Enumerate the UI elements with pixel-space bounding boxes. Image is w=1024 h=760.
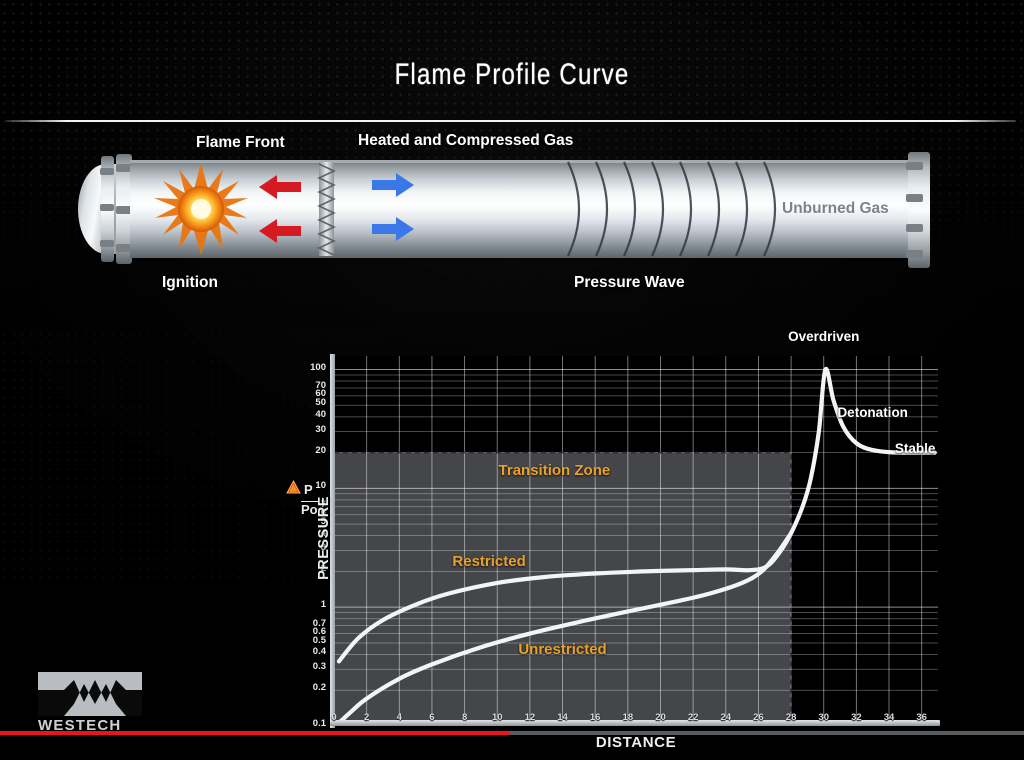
x-tick-label: 22 [688,712,699,723]
x-tick-label: 24 [720,712,731,723]
x-tick-label: 4 [397,712,402,723]
x-tick-label: 28 [786,712,797,723]
chart-annotation: Detonation [837,405,908,420]
x-tick-label: 10 [492,712,503,723]
pipe-diagram: Flame Front Heated and Compressed Gas Ig… [60,132,960,290]
x-tick-label: 2 [364,712,369,723]
page-title: Flame Profile Curve [102,58,921,92]
video-progress-track[interactable] [0,731,1024,735]
chart-annotation: Stable [895,441,936,456]
ratio-numerator: P [304,482,313,497]
title-divider [6,120,1016,122]
y-tick-label: 0.3 [313,662,326,671]
y-tick-label: 0.5 [313,636,326,645]
pipe-mesh-screen [319,162,334,256]
x-tick-label: 34 [884,712,895,723]
x-tick-label: 16 [590,712,601,723]
y-tick-label: 0.2 [313,683,326,692]
flame-profile-chart: 0.10.20.30.40.50.60.71234567102030405060… [278,330,968,730]
y-tick-label: 20 [315,446,326,455]
label-ignition: Ignition [162,274,218,292]
x-tick-label: 32 [851,712,862,723]
x-tick-label: 8 [462,712,467,723]
westech-logo: WESTECH [38,672,150,734]
ratio-denominator: Po [301,501,318,517]
y-tick-label: 100 [310,363,326,372]
delta-triangle-icon [286,480,301,499]
label-unburned-gas: Unburned Gas [782,200,889,218]
y-tick-label: 50 [315,398,326,407]
chart-annotation: Transition Zone [499,462,611,479]
video-progress-fill[interactable] [0,731,510,735]
y-tick-label: 1 [321,600,326,609]
x-tick-label: 30 [818,712,829,723]
chart-annotation: Overdriven [788,329,859,344]
y-tick-label: 0.7 [313,619,326,628]
label-pressure-wave: Pressure Wave [574,274,685,292]
chart-x-tick-labels: 024681012141618202224262830323436 [334,712,938,728]
y-tick-label: 40 [315,410,326,419]
chart-x-axis-title: DISTANCE [334,734,938,751]
slide-stage: Flame Profile Curve [0,0,1024,760]
label-heated-gas: Heated and Compressed Gas [358,132,573,150]
y-tick-label: 0.1 [313,719,326,728]
y-tick-label: 70 [315,381,326,390]
westech-zigzag-mark [38,672,142,716]
x-tick-label: 12 [525,712,536,723]
x-tick-label: 36 [916,712,927,723]
x-tick-label: 6 [429,712,434,723]
x-tick-label: 26 [753,712,764,723]
pressure-ratio-legend: P Po [286,480,332,519]
y-tick-label: 0.4 [313,647,326,656]
x-tick-label: 14 [557,712,568,723]
chart-annotation: Unrestricted [518,641,606,658]
y-tick-label: 30 [315,425,326,434]
x-tick-label: 20 [655,712,666,723]
x-tick-label: 0 [331,712,336,723]
x-tick-label: 18 [623,712,634,723]
chart-annotation: Restricted [452,553,525,570]
label-flame-front: Flame Front [196,134,285,152]
